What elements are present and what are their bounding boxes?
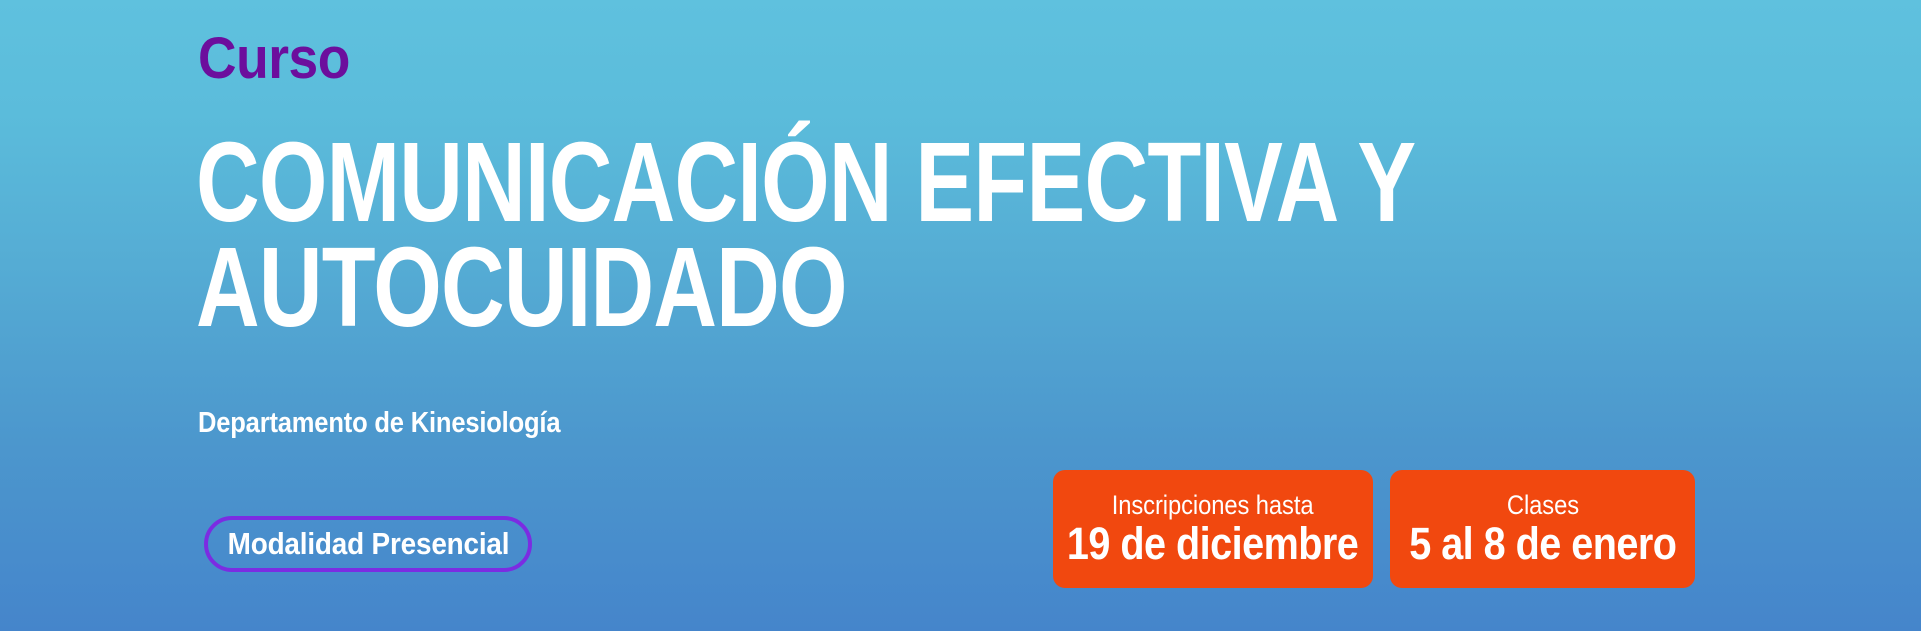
badge-inscripciones-value: 19 de diciembre bbox=[1067, 521, 1358, 567]
course-eyebrow-label: Curso bbox=[198, 30, 350, 88]
department-label: Departamento de Kinesiología bbox=[198, 409, 560, 438]
badge-clases: Clases 5 al 8 de enero bbox=[1390, 470, 1695, 588]
badge-clases-value: 5 al 8 de enero bbox=[1409, 521, 1676, 567]
badge-inscripciones: Inscripciones hasta 19 de diciembre bbox=[1053, 470, 1373, 588]
modality-pill: Modalidad Presencial bbox=[204, 516, 532, 572]
badge-inscripciones-caption: Inscripciones hasta bbox=[1112, 491, 1314, 519]
course-promo-banner: Curso COMUNICACIÓN EFECTIVA Y AUTOCUIDAD… bbox=[0, 0, 1921, 631]
modality-pill-label: Modalidad Presencial bbox=[227, 526, 509, 562]
course-title-line-2: AUTOCUIDADO bbox=[196, 235, 1288, 340]
course-title: COMUNICACIÓN EFECTIVA Y AUTOCUIDADO bbox=[196, 130, 1596, 340]
badge-clases-caption: Clases bbox=[1506, 491, 1578, 519]
course-title-line-1: COMUNICACIÓN EFECTIVA Y bbox=[196, 130, 1288, 235]
